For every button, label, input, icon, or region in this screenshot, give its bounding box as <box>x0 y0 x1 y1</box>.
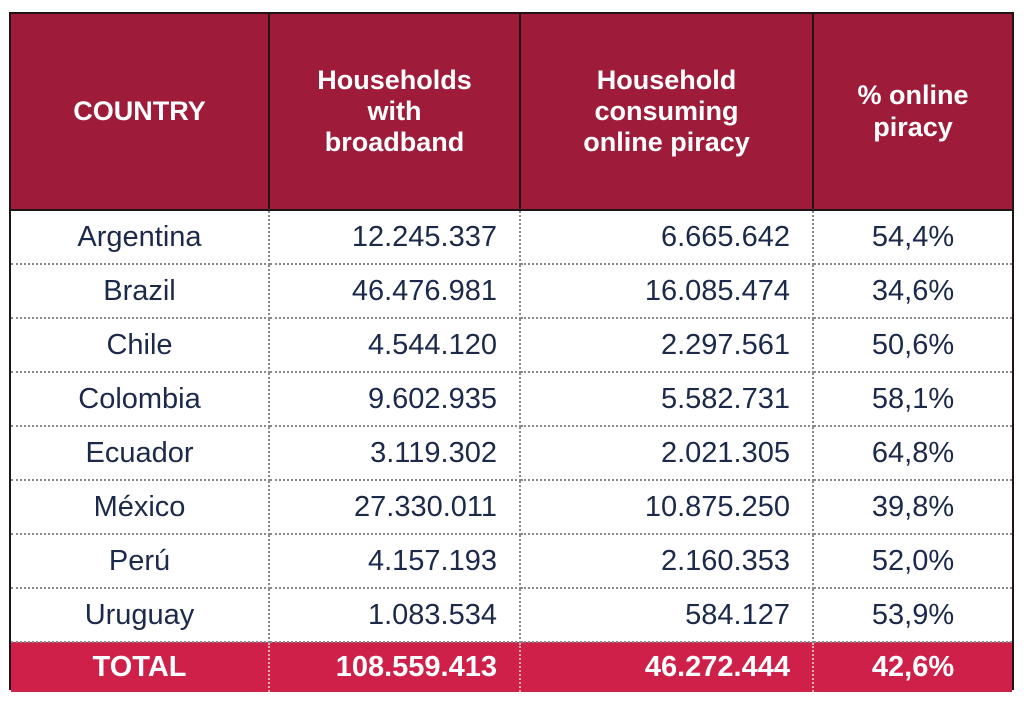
cell-broadband: 3.119.302 <box>269 426 520 480</box>
cell-broadband: 4.157.193 <box>269 534 520 588</box>
cell-percent: 53,9% <box>813 588 1012 642</box>
cell-piracy: 16.085.474 <box>520 264 813 318</box>
cell-broadband: 4.544.120 <box>269 318 520 372</box>
cell-broadband: 12.245.337 <box>269 210 520 264</box>
cell-piracy: 2.021.305 <box>520 426 813 480</box>
piracy-table-container: COUNTRY Households with broadband Househ… <box>9 12 1014 690</box>
cell-piracy: 6.665.642 <box>520 210 813 264</box>
piracy-table: COUNTRY Households with broadband Househ… <box>11 14 1012 692</box>
header-row: COUNTRY Households with broadband Househ… <box>11 14 1012 210</box>
cell-percent: 34,6% <box>813 264 1012 318</box>
column-header-piracy-line-3: online piracy <box>529 127 804 158</box>
column-header-percent-line-1: % online <box>822 80 1004 111</box>
cell-country: Chile <box>11 318 269 372</box>
table-row: Argentina 12.245.337 6.665.642 54,4% <box>11 210 1012 264</box>
table-row: Brazil 46.476.981 16.085.474 34,6% <box>11 264 1012 318</box>
cell-piracy: 2.160.353 <box>520 534 813 588</box>
cell-country: Uruguay <box>11 588 269 642</box>
cell-country: México <box>11 480 269 534</box>
total-label: TOTAL <box>11 642 269 692</box>
column-header-broadband: Households with broadband <box>269 14 520 210</box>
column-header-broadband-line-1: Households <box>278 65 511 96</box>
table-row: Chile 4.544.120 2.297.561 50,6% <box>11 318 1012 372</box>
column-header-percent-line-2: piracy <box>822 112 1004 143</box>
cell-percent: 54,4% <box>813 210 1012 264</box>
column-header-piracy: Household consuming online piracy <box>520 14 813 210</box>
column-header-piracy-line-1: Household <box>529 65 804 96</box>
column-header-broadband-line-2: with <box>278 96 511 127</box>
cell-percent: 39,8% <box>813 480 1012 534</box>
table-body: Argentina 12.245.337 6.665.642 54,4% Bra… <box>11 210 1012 692</box>
total-percent: 42,6% <box>813 642 1012 692</box>
column-header-country: COUNTRY <box>11 14 269 210</box>
cell-percent: 52,0% <box>813 534 1012 588</box>
column-header-percent: % online piracy <box>813 14 1012 210</box>
cell-country: Brazil <box>11 264 269 318</box>
table-row: Perú 4.157.193 2.160.353 52,0% <box>11 534 1012 588</box>
cell-country: Argentina <box>11 210 269 264</box>
table-row: Colombia 9.602.935 5.582.731 58,1% <box>11 372 1012 426</box>
table-row: México 27.330.011 10.875.250 39,8% <box>11 480 1012 534</box>
cell-piracy: 2.297.561 <box>520 318 813 372</box>
table-header: COUNTRY Households with broadband Househ… <box>11 14 1012 210</box>
cell-country: Perú <box>11 534 269 588</box>
column-header-country-line-1: COUNTRY <box>19 96 260 127</box>
cell-percent: 58,1% <box>813 372 1012 426</box>
table-row: Uruguay 1.083.534 584.127 53,9% <box>11 588 1012 642</box>
total-piracy: 46.272.444 <box>520 642 813 692</box>
cell-broadband: 27.330.011 <box>269 480 520 534</box>
cell-country: Ecuador <box>11 426 269 480</box>
table-row: Ecuador 3.119.302 2.021.305 64,8% <box>11 426 1012 480</box>
page-root: COUNTRY Households with broadband Househ… <box>0 0 1024 705</box>
cell-broadband: 1.083.534 <box>269 588 520 642</box>
cell-piracy: 584.127 <box>520 588 813 642</box>
cell-broadband: 46.476.981 <box>269 264 520 318</box>
cell-percent: 64,8% <box>813 426 1012 480</box>
cell-country: Colombia <box>11 372 269 426</box>
cell-piracy: 5.582.731 <box>520 372 813 426</box>
column-header-broadband-line-3: broadband <box>278 127 511 158</box>
table-total-row: TOTAL 108.559.413 46.272.444 42,6% <box>11 642 1012 692</box>
cell-broadband: 9.602.935 <box>269 372 520 426</box>
cell-piracy: 10.875.250 <box>520 480 813 534</box>
total-broadband: 108.559.413 <box>269 642 520 692</box>
cell-percent: 50,6% <box>813 318 1012 372</box>
column-header-piracy-line-2: consuming <box>529 96 804 127</box>
